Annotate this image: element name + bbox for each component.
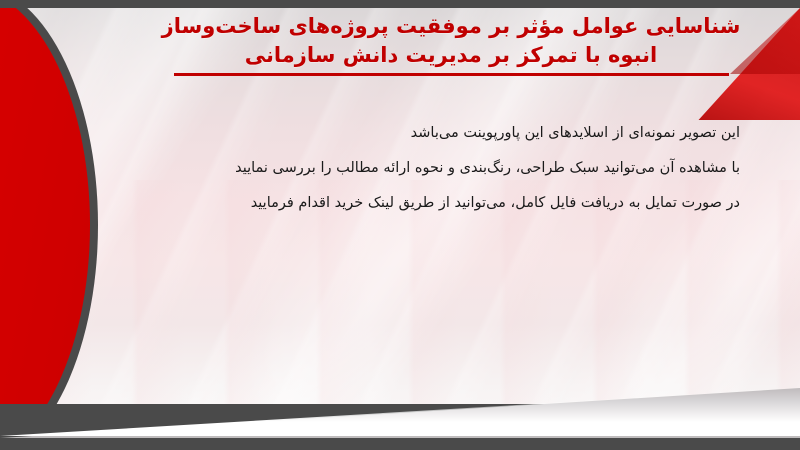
body-line-3: در صورت تمایل به دریافت فایل کامل، می‌تو…: [110, 186, 740, 221]
title-line-1: شناسایی عوامل مؤثر بر موفقیت پروژه‌های س…: [120, 12, 782, 41]
title-line-2: انبوه با تمرکز بر مدیریت دانش سازمانی: [120, 41, 782, 70]
presentation-slide: شناسایی عوامل مؤثر بر موفقیت پروژه‌های س…: [0, 0, 800, 450]
top-dark-band: [0, 0, 800, 8]
body-line-1: این تصویر نمونه‌ای از اسلایدهای این پاور…: [110, 116, 740, 151]
title-underline-rule: [174, 73, 729, 76]
slide-body-text: این تصویر نمونه‌ای از اسلایدهای این پاور…: [110, 116, 740, 221]
slide-title: شناسایی عوامل مؤثر بر موفقیت پروژه‌های س…: [120, 12, 782, 76]
body-line-2: با مشاهده آن می‌توانید سبک طراحی، رنگ‌بن…: [110, 151, 740, 186]
